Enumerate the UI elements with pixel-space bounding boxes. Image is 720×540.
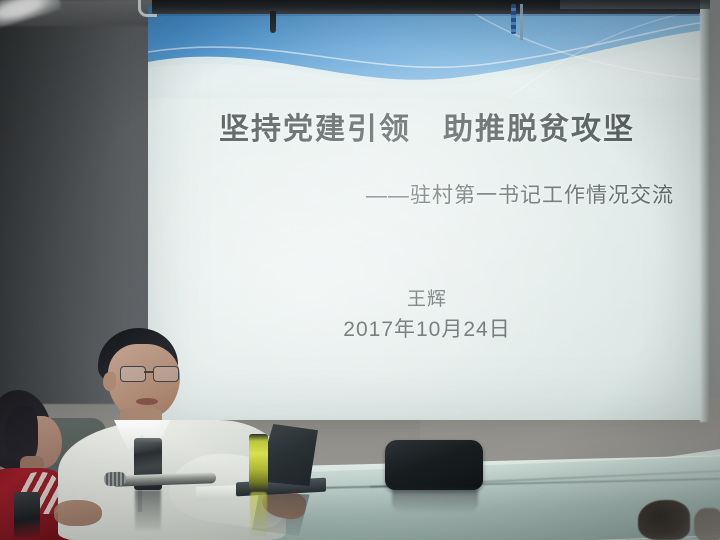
pull-cord-icon xyxy=(520,4,523,40)
slide-banner xyxy=(148,6,706,98)
screen-right-edge xyxy=(700,4,709,422)
slide-author: 王辉 xyxy=(148,284,706,311)
thermos-reflection xyxy=(135,490,161,530)
slide-subtitle: ——驻村第一书记工作情况交流 xyxy=(366,179,674,209)
microphone-head-icon xyxy=(104,472,126,487)
laptop-case-reflection xyxy=(392,488,478,512)
foreground-object xyxy=(638,500,690,540)
man-mouth xyxy=(136,398,158,405)
man-ear xyxy=(103,372,116,391)
wall-conduit xyxy=(138,0,157,17)
glasses-bridge xyxy=(144,371,153,373)
glasses-lens-right xyxy=(153,366,179,382)
foreground-object-secondary xyxy=(694,508,720,540)
pull-chain-icon xyxy=(511,4,516,34)
glasses-icon xyxy=(120,366,182,381)
cup xyxy=(14,492,40,538)
water-bottle xyxy=(249,434,268,492)
man-left-hand xyxy=(54,500,102,526)
slide-title: 坚持党建引领 助推脱贫攻坚 xyxy=(148,104,706,148)
photo-scene: 坚持党建引领 助推脱贫攻坚 ——驻村第一书记工作情况交流 王辉 2017年10月… xyxy=(0,0,720,540)
laptop-case xyxy=(385,440,483,490)
woman-hair-front xyxy=(4,406,38,462)
screen-hook-icon xyxy=(270,11,276,33)
paper-sheet xyxy=(196,485,240,501)
water-bottle-reflection xyxy=(250,492,267,536)
screen-roller-extension xyxy=(560,0,710,9)
glasses-lens-left xyxy=(120,366,146,382)
